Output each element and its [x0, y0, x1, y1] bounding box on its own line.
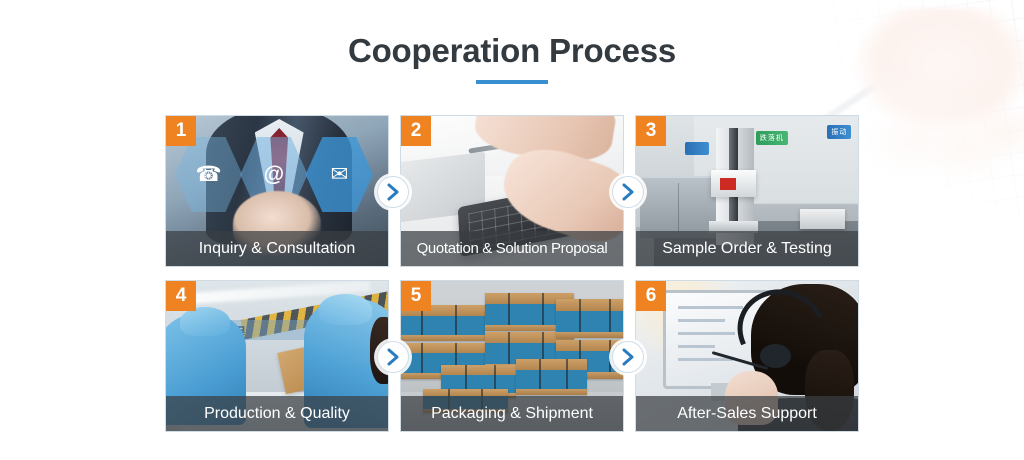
chevron-right-icon-4[interactable] — [377, 341, 409, 373]
crate-stack — [516, 359, 587, 395]
step-number-badge-4: 4 — [166, 281, 196, 311]
process-step-card-1[interactable]: ☎ @ ✉ 1 Inquiry & Consultation — [166, 116, 388, 266]
process-step-card-2[interactable]: 2 Quotation & Solution Proposal — [401, 116, 623, 266]
step-number-badge-5: 5 — [401, 281, 431, 311]
process-step-card-6[interactable]: 6 After-Sales Support — [636, 281, 858, 431]
process-step-card-3[interactable]: 跌落机 振动 3 Sample Order & Testing — [636, 116, 858, 266]
lab-sign-green: 跌落机 — [756, 131, 788, 145]
lab-sign-small — [685, 142, 709, 155]
title-underline — [476, 80, 548, 84]
process-step-card-5[interactable]: 5 Packaging & Shipment — [401, 281, 623, 431]
machine-display — [720, 178, 736, 190]
lab-sign-blue: 振动 — [827, 125, 851, 139]
step-caption-2: Quotation & Solution Proposal — [401, 231, 623, 266]
crate-stack — [556, 299, 623, 338]
worker-left-cap — [180, 307, 230, 336]
envelope-icon: ✉ — [306, 137, 373, 212]
page-title: Cooperation Process — [0, 31, 1024, 71]
process-steps-grid: ☎ @ ✉ 1 Inquiry & Consultation 2 Quotati… — [166, 116, 858, 436]
chevron-right-icon-1[interactable] — [377, 176, 409, 208]
process-step-card-4[interactable]: 规程 4 Production & Quality — [166, 281, 388, 431]
step-caption-5: Packaging & Shipment — [401, 396, 623, 431]
phone-icon: ☎ — [175, 137, 242, 212]
lab-equipment-box — [800, 209, 844, 229]
cabinet-shape — [640, 176, 715, 238]
step-caption-6: After-Sales Support — [636, 396, 858, 431]
step-number-badge-3: 3 — [636, 116, 666, 146]
step-number-badge-2: 2 — [401, 116, 431, 146]
step-caption-1: Inquiry & Consultation — [166, 231, 388, 266]
page-header: Cooperation Process — [0, 31, 1024, 84]
chevron-right-icon-5[interactable] — [612, 341, 644, 373]
worker-right-cap — [319, 294, 372, 325]
step-caption-4: Production & Quality — [166, 396, 388, 431]
step-number-badge-6: 6 — [636, 281, 666, 311]
step-number-badge-1: 1 — [166, 116, 196, 146]
step-caption-3: Sample Order & Testing — [636, 231, 858, 266]
chevron-right-icon-2[interactable] — [612, 176, 644, 208]
